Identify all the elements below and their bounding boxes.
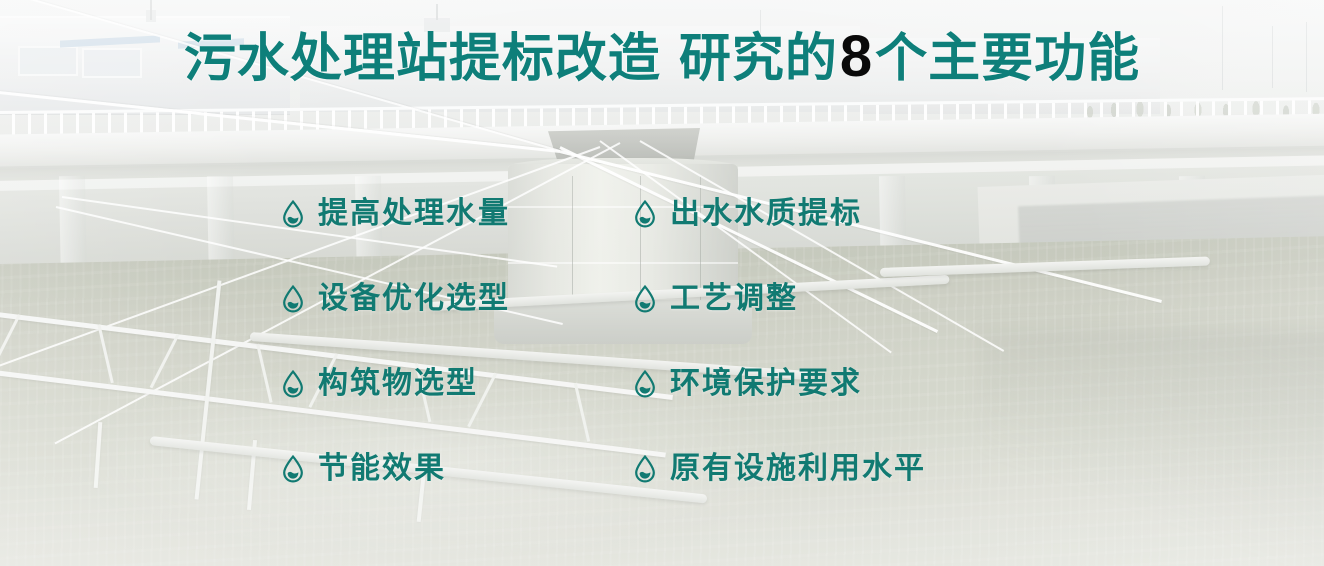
water-drop-icon <box>634 285 656 313</box>
water-drop-icon <box>282 200 304 228</box>
title-number: 8 <box>838 24 875 89</box>
feature-item[interactable]: 节能效果 <box>282 447 634 491</box>
feature-item[interactable]: 设备优化选型 <box>282 277 634 321</box>
title-part-1: 污水处理站提标改造 <box>184 33 661 85</box>
feature-label: 原有设施利用水平 <box>670 454 926 484</box>
title-part-3: 个主要功能 <box>875 33 1140 85</box>
feature-label: 设备优化选型 <box>318 284 510 314</box>
banner: 污水处理站提标改造研究的8个主要功能 提高处理水量 出水水质提标 <box>0 0 1324 566</box>
feature-item[interactable]: 环境保护要求 <box>634 362 986 406</box>
water-drop-icon <box>634 455 656 483</box>
feature-item[interactable]: 出水水质提标 <box>634 192 986 236</box>
feature-label: 提高处理水量 <box>318 199 510 229</box>
water-drop-icon <box>282 455 304 483</box>
feature-label: 工艺调整 <box>670 284 798 314</box>
water-drop-icon <box>634 200 656 228</box>
water-drop-icon <box>282 285 304 313</box>
water-drop-icon <box>634 370 656 398</box>
title-part-2: 研究的 <box>679 33 838 85</box>
feature-item[interactable]: 提高处理水量 <box>282 192 634 236</box>
water-drop-icon <box>282 370 304 398</box>
content-layer: 污水处理站提标改造研究的8个主要功能 提高处理水量 出水水质提标 <box>0 0 1324 566</box>
feature-label: 环境保护要求 <box>670 369 862 399</box>
feature-item[interactable]: 原有设施利用水平 <box>634 447 986 491</box>
page-title: 污水处理站提标改造研究的8个主要功能 <box>0 28 1324 86</box>
feature-label: 构筑物选型 <box>318 369 478 399</box>
feature-label: 出水水质提标 <box>670 199 862 229</box>
feature-item[interactable]: 构筑物选型 <box>282 362 634 406</box>
feature-label: 节能效果 <box>318 454 446 484</box>
feature-item[interactable]: 工艺调整 <box>634 277 986 321</box>
feature-list: 提高处理水量 出水水质提标 设备优化选型 <box>282 192 1042 491</box>
